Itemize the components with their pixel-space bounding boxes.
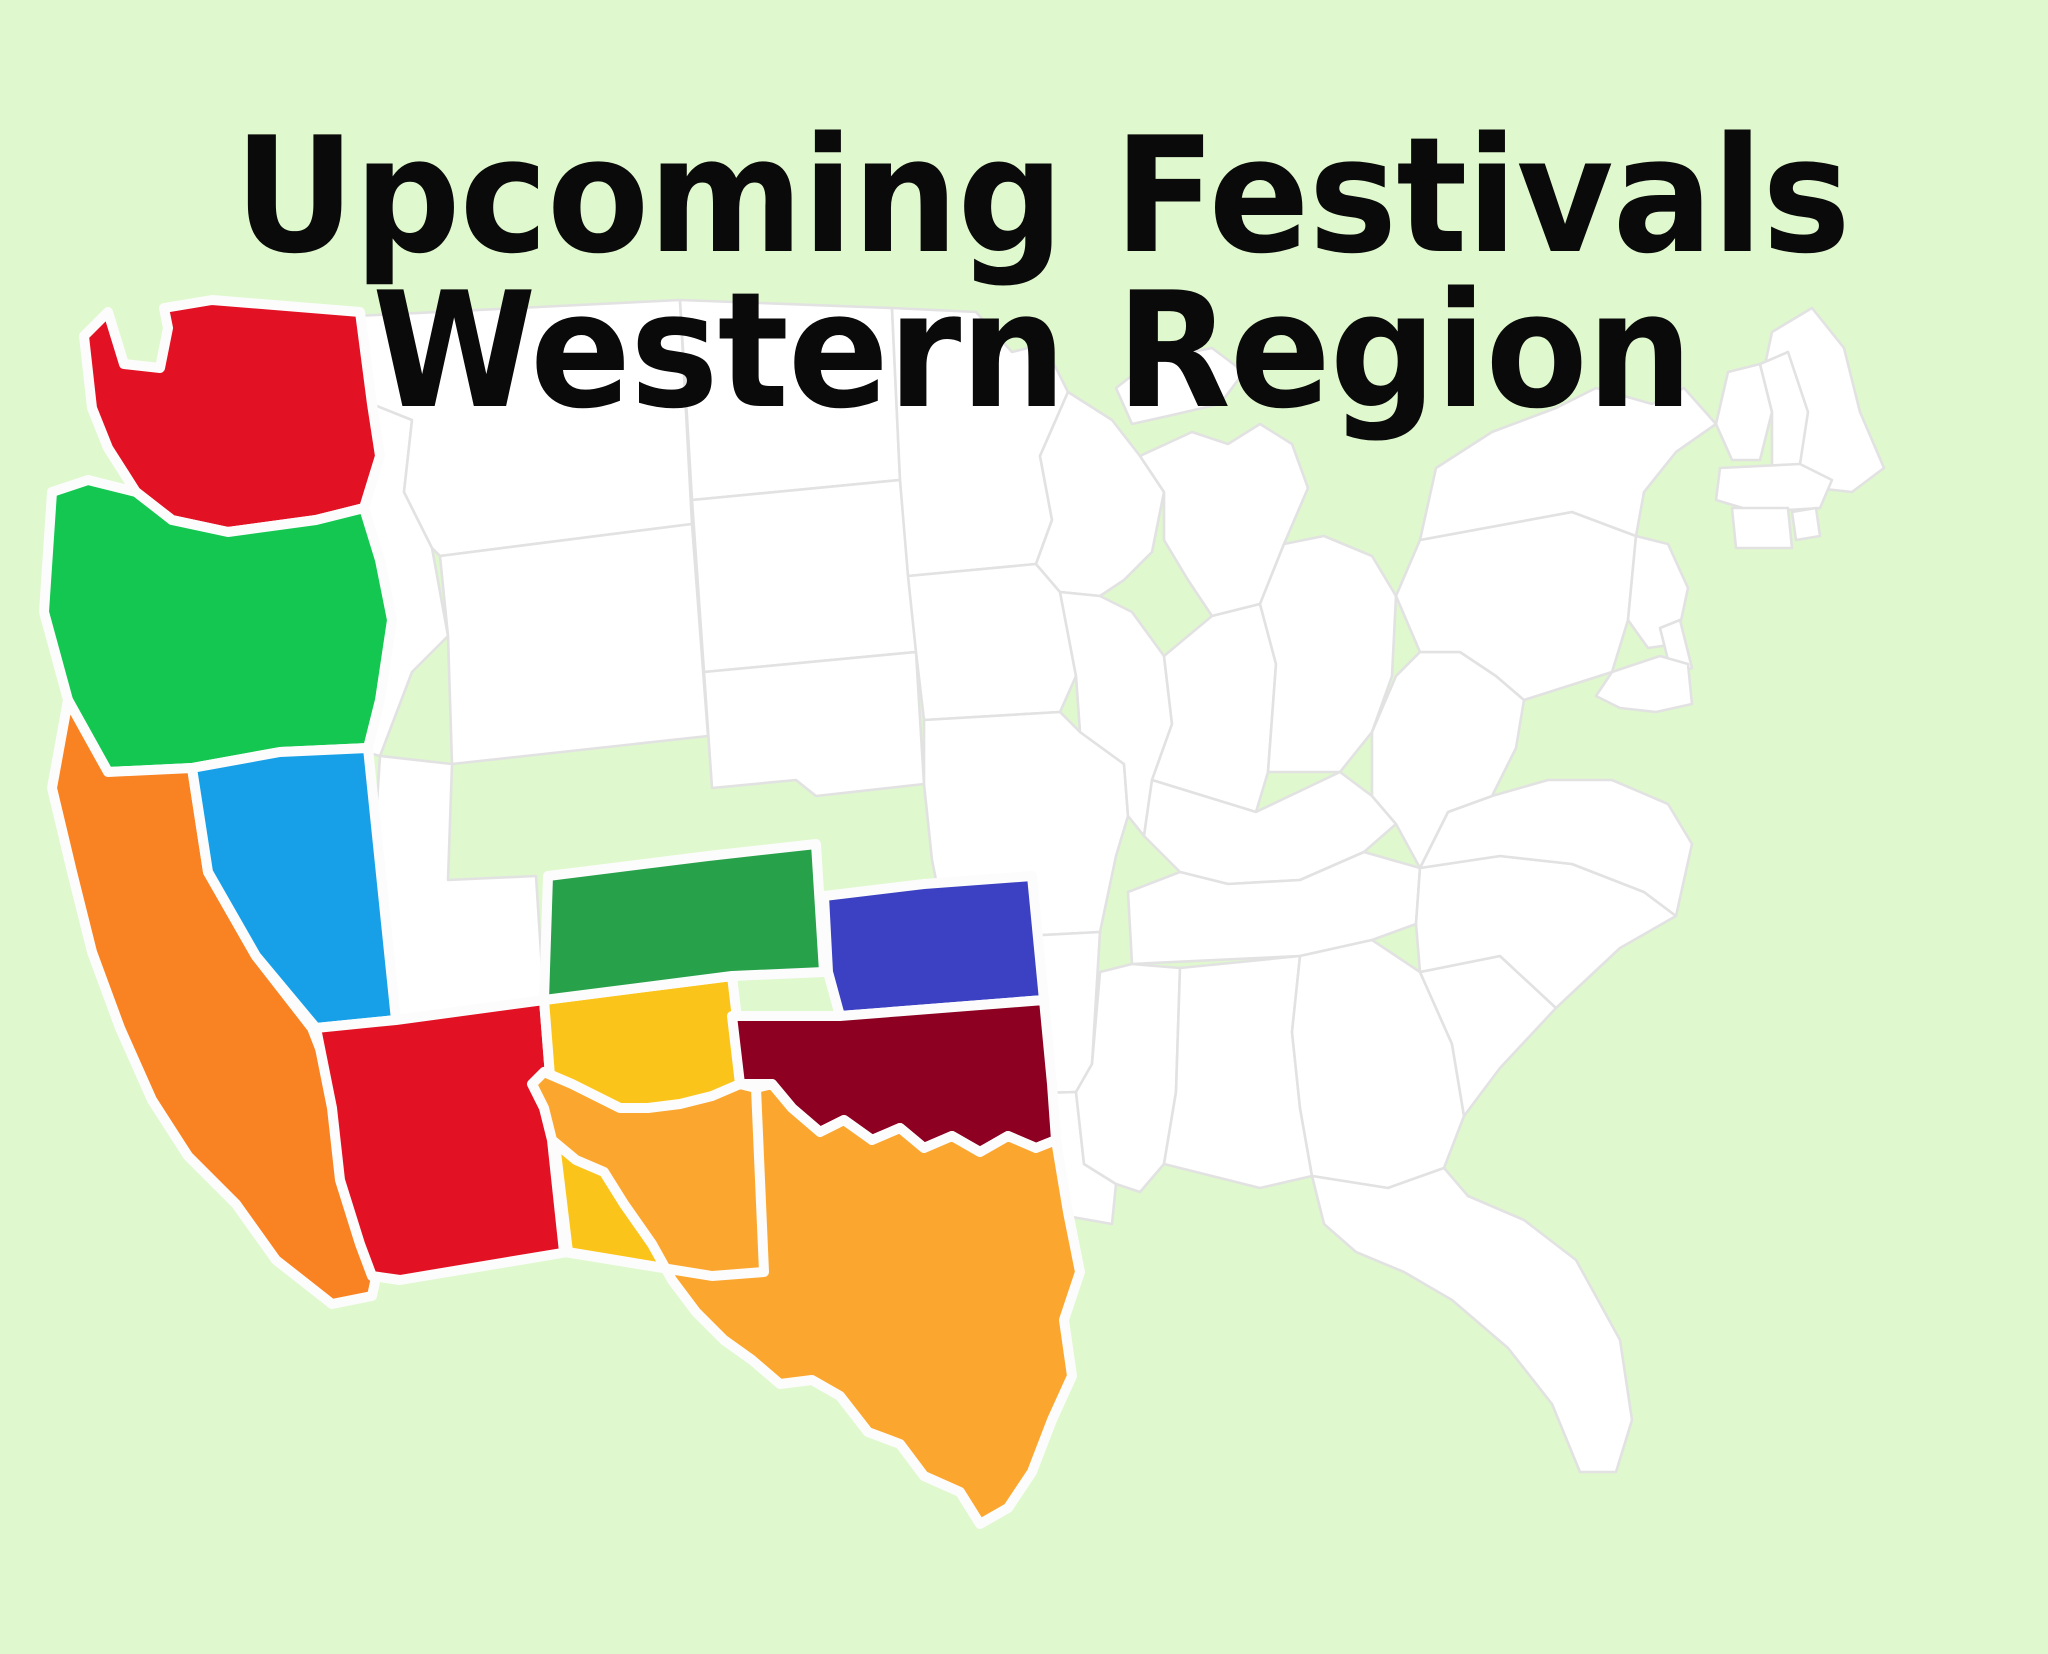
state-nebraska[interactable]: [704, 652, 924, 796]
state-minnesota[interactable]: [892, 308, 1068, 576]
state-north-dakota[interactable]: [680, 300, 900, 500]
state-wyoming[interactable]: [440, 524, 708, 764]
state-alabama[interactable]: [1164, 956, 1312, 1188]
state-wisconsin[interactable]: [1036, 392, 1164, 596]
united-states-map: [20, 300, 2000, 1530]
state-texas[interactable]: [532, 1072, 1080, 1524]
state-south-dakota[interactable]: [692, 480, 916, 672]
state-indiana[interactable]: [1152, 604, 1276, 812]
state-utah[interactable]: [372, 756, 544, 1020]
state-colorado[interactable]: [544, 844, 824, 1000]
state-arizona[interactable]: [316, 1000, 568, 1280]
state-kansas[interactable]: [824, 876, 1044, 1016]
state-massachusetts[interactable]: [1716, 464, 1832, 512]
state-florida[interactable]: [1312, 1168, 1632, 1472]
state-iowa[interactable]: [908, 564, 1076, 720]
poster-canvas: Upcoming Festivals Western Region: [0, 0, 2048, 1654]
map-layer: [0, 0, 2048, 1654]
state-connecticut[interactable]: [1732, 508, 1792, 548]
state-rhode-island[interactable]: [1792, 508, 1820, 540]
